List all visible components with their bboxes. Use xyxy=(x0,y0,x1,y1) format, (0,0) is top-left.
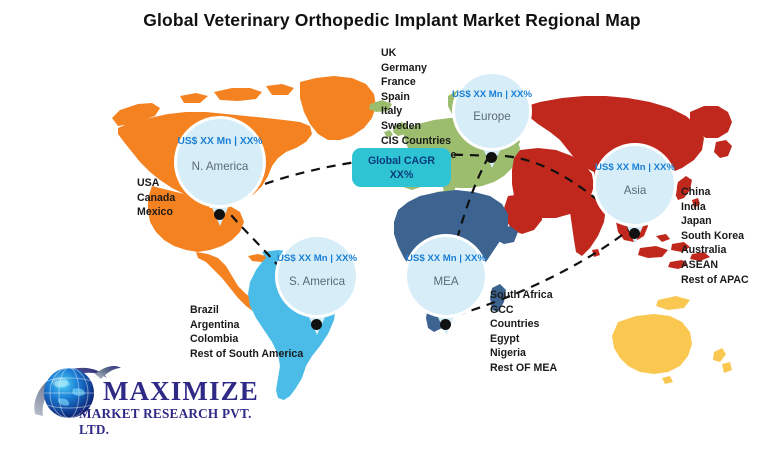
map-pin-europe[interactable]: US$ XX Mn | XX% Europe xyxy=(452,71,532,165)
country-item: India xyxy=(681,200,749,215)
pin-label-europe: Europe xyxy=(452,110,532,123)
country-item: Germany xyxy=(381,61,456,76)
pin-value-mea: US$ XX Mn | XX% xyxy=(404,253,488,264)
country-list-asia: China India Japan South Korea Australia … xyxy=(681,185,749,287)
globe-highlight xyxy=(52,377,68,387)
cagr-value: XX% xyxy=(390,168,414,182)
pin-label-south-america: S. America xyxy=(275,275,359,288)
country-item: Colombia xyxy=(190,332,303,347)
global-cagr-badge[interactable]: Global CAGR XX% xyxy=(352,148,451,187)
country-item: France xyxy=(381,75,456,90)
pin-anchor-dot xyxy=(311,319,322,330)
pin-anchor-dot xyxy=(629,228,640,239)
world-map-container: UK Germany France Spain Italy Sweden CIS… xyxy=(0,0,784,450)
pin-value-europe: US$ XX Mn | XX% xyxy=(452,89,532,100)
company-logo: MAXIMIZE MARKET RESEARCH PVT. LTD. xyxy=(25,358,275,436)
country-item: UK xyxy=(381,46,456,61)
country-list-mea: South Africa GCC Countries Egypt Nigeria… xyxy=(490,288,557,376)
country-item: South Korea xyxy=(681,229,749,244)
pin-value-asia: US$ XX Mn | XX% xyxy=(593,162,677,173)
country-item: China xyxy=(681,185,749,200)
pin-label-mea: MEA xyxy=(404,275,488,288)
cagr-label: Global CAGR xyxy=(368,154,435,168)
country-item: Countries xyxy=(490,317,557,332)
country-item: Mexico xyxy=(137,205,175,220)
map-pin-mea[interactable]: US$ XX Mn | XX% MEA xyxy=(404,234,488,332)
pin-value-south-america: US$ XX Mn | XX% xyxy=(275,253,359,264)
country-item: Egypt xyxy=(490,332,557,347)
map-pin-asia[interactable]: US$ XX Mn | XX% Asia xyxy=(593,143,677,241)
country-item: Canada xyxy=(137,191,175,206)
country-item: Rest of APAC xyxy=(681,273,749,288)
country-list-europe: UK Germany France Spain Italy Sweden CIS… xyxy=(381,46,456,163)
logo-text: MAXIMIZE MARKET RESEARCH PVT. LTD. xyxy=(103,378,275,438)
country-item: South Africa xyxy=(490,288,557,303)
pin-anchor-dot xyxy=(214,209,225,220)
logo-company-name: MAXIMIZE xyxy=(103,378,275,405)
country-item: Sweden xyxy=(381,119,456,134)
country-item: Spain xyxy=(381,90,456,105)
map-region-oceania xyxy=(612,296,732,384)
country-item: CIS Countries xyxy=(381,134,456,149)
country-item: USA xyxy=(137,176,175,191)
pin-value-north-america: US$ XX Mn | XX% xyxy=(174,136,266,147)
country-item: Rest OF MEA xyxy=(490,361,557,376)
country-item: ASEAN xyxy=(681,258,749,273)
country-item: Nigeria xyxy=(490,346,557,361)
country-item: GCC xyxy=(490,303,557,318)
map-pin-north-america[interactable]: US$ XX Mn | XX% N. America xyxy=(174,116,266,221)
country-item: Australia xyxy=(681,243,749,258)
pin-label-north-america: N. America xyxy=(174,160,266,173)
logo-tagline: MARKET RESEARCH PVT. LTD. xyxy=(79,406,275,438)
map-pin-south-america[interactable]: US$ XX Mn | XX% S. America xyxy=(275,234,359,332)
country-item: Japan xyxy=(681,214,749,229)
pin-label-asia: Asia xyxy=(593,184,677,197)
pin-anchor-dot xyxy=(440,319,451,330)
country-item: Italy xyxy=(381,104,456,119)
pin-anchor-dot xyxy=(486,152,497,163)
country-list-north-america: USA Canada Mexico xyxy=(137,176,175,220)
